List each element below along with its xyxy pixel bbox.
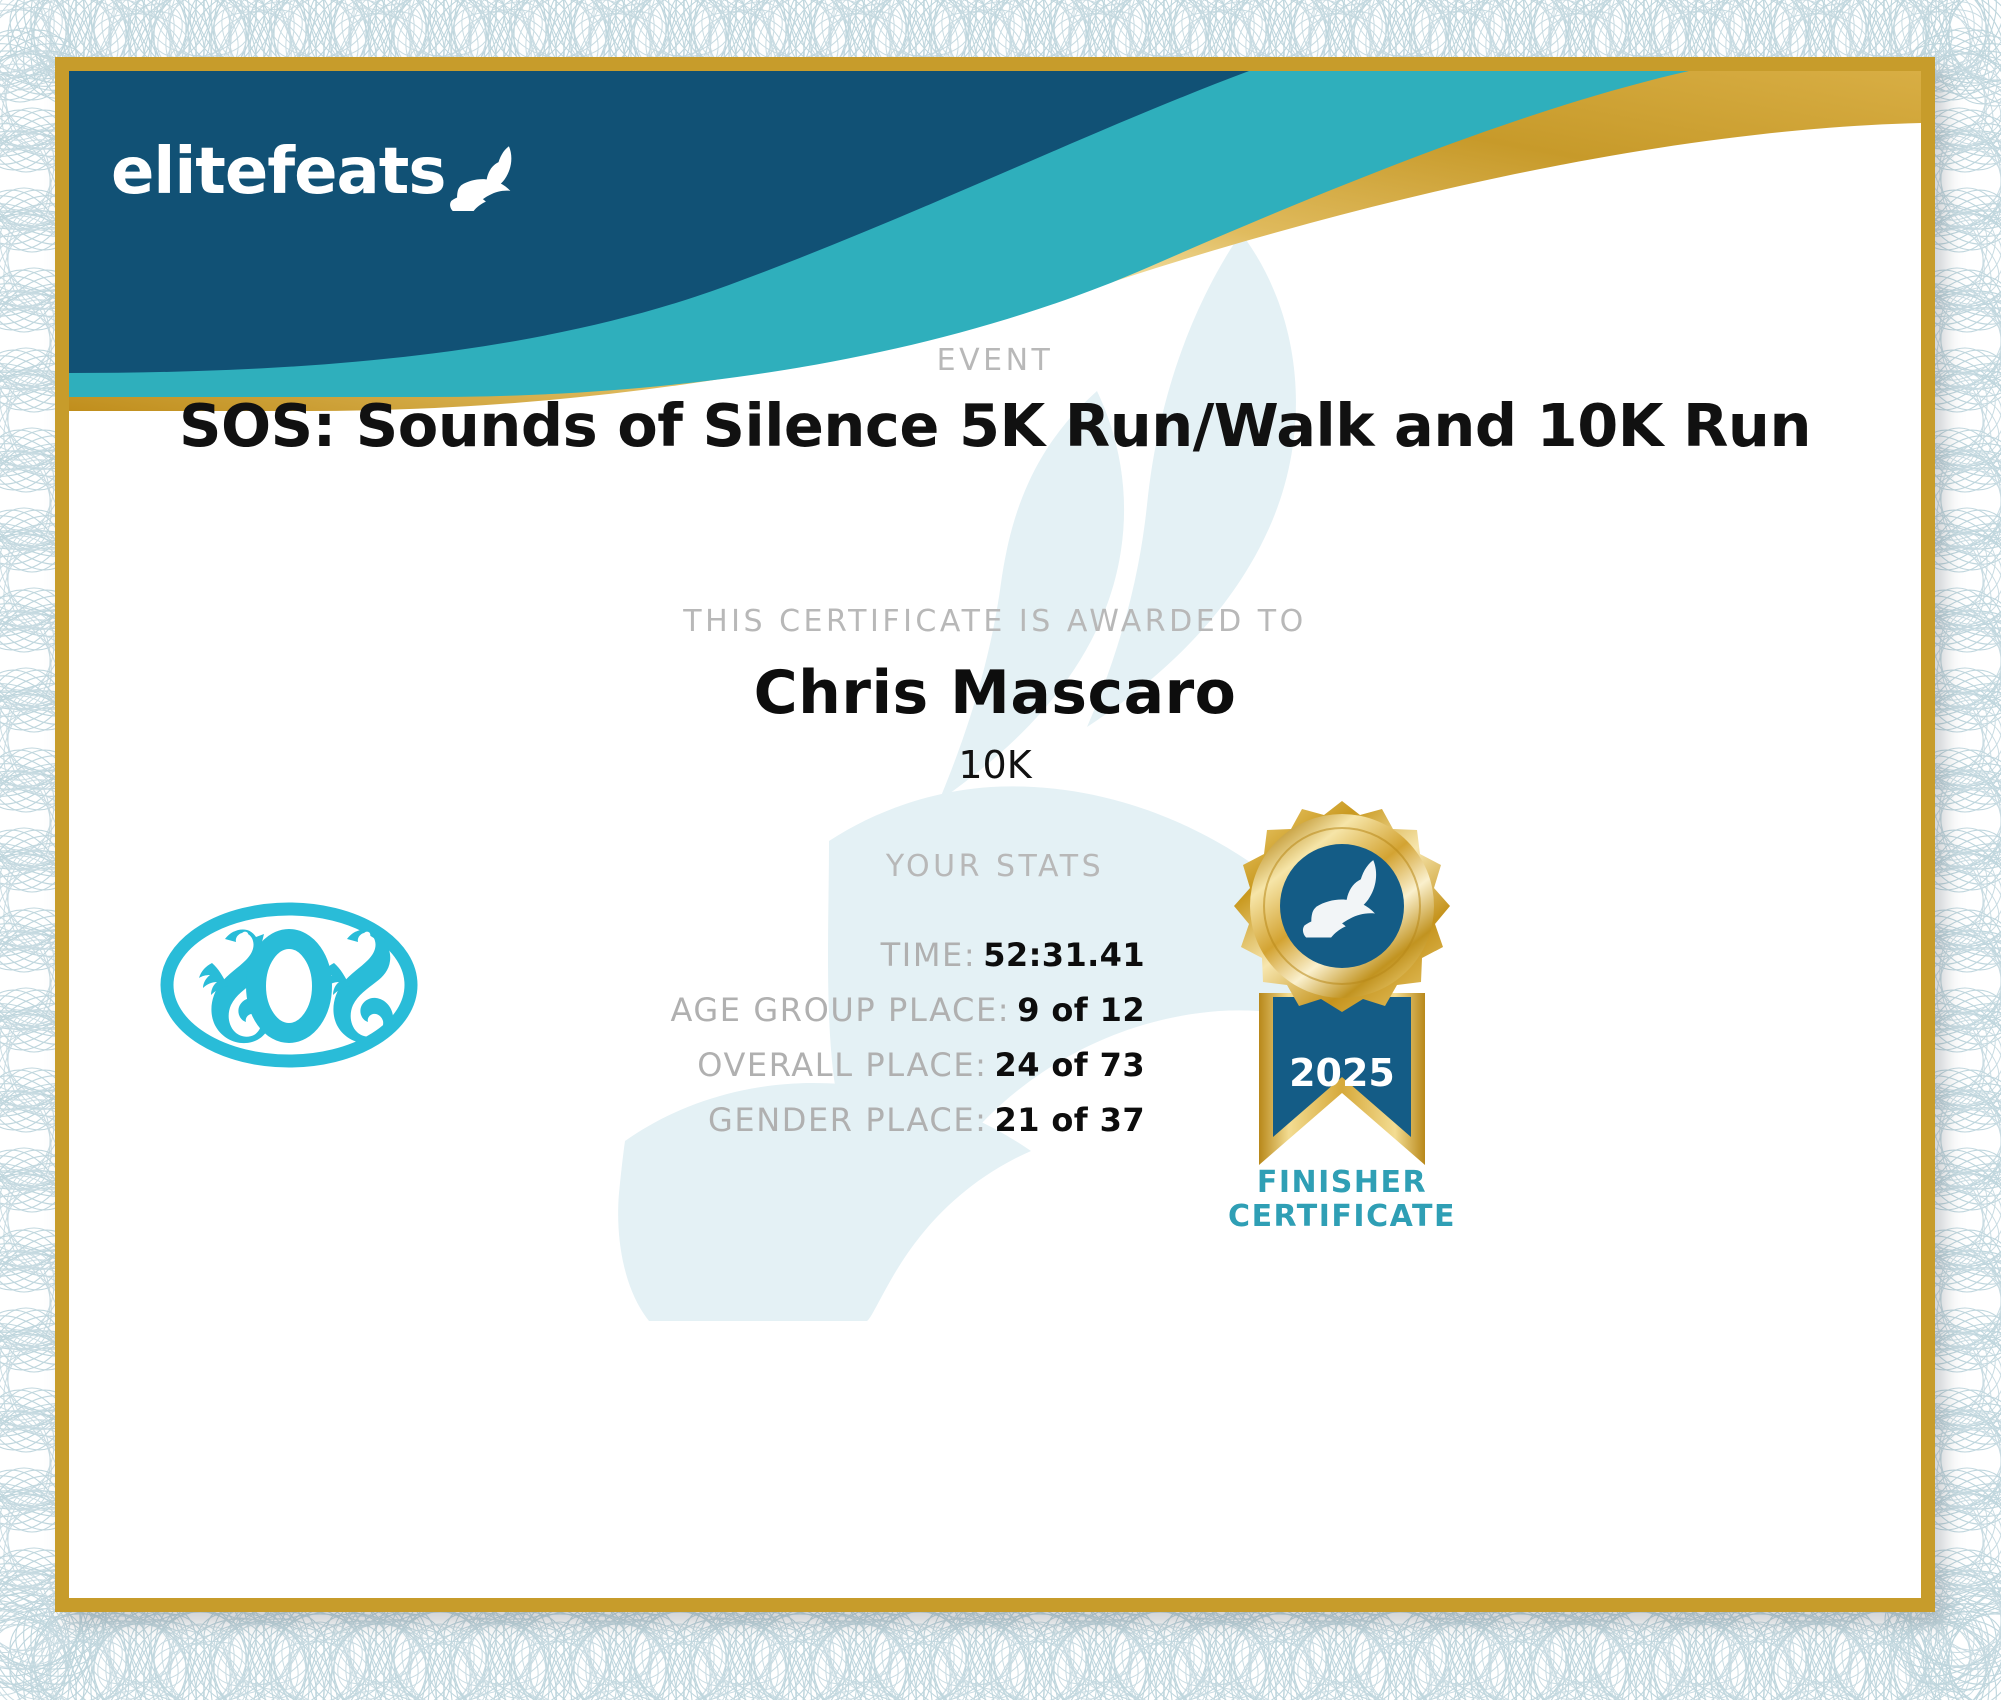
stat-value: 21 of 37 [995, 1101, 1145, 1139]
certificate-frame: elitefeats EVENT SOS: Sounds of Silence … [55, 57, 1935, 1612]
stat-value: 24 of 73 [995, 1046, 1145, 1084]
stat-key: OVERALL PLACE: [697, 1046, 987, 1084]
certificate-content: EVENT SOS: Sounds of Silence 5K Run/Walk… [69, 71, 1921, 1598]
stat-key: TIME: [881, 936, 977, 974]
event-title: SOS: Sounds of Silence 5K Run/Walk and 1… [69, 391, 1921, 460]
sos-seahorse-oval-icon [159, 901, 419, 1069]
your-stats-label: YOUR STATS [69, 849, 1921, 884]
certificate-inner: elitefeats EVENT SOS: Sounds of Silence … [69, 71, 1921, 1598]
stat-value: 52:31.41 [983, 936, 1145, 974]
event-label: EVENT [69, 343, 1921, 378]
medal-year: 2025 [1289, 1051, 1395, 1095]
certificate-page: elitefeats EVENT SOS: Sounds of Silence … [0, 0, 2001, 1700]
awarded-to-label: THIS CERTIFICATE IS AWARDED TO [69, 604, 1921, 639]
finisher-caption-line2: CERTIFICATE [1197, 1200, 1487, 1234]
recipient-name: Chris Mascaro [69, 658, 1921, 728]
stat-row-gender-place: GENDER PLACE:21 of 37 [69, 1104, 1145, 1136]
finisher-medal-badge: 2025 [1197, 793, 1487, 1173]
stat-value: 9 of 12 [1017, 991, 1145, 1029]
finisher-certificate-caption: FINISHER CERTIFICATE [1197, 1166, 1487, 1233]
recipient-division: 10K [69, 743, 1921, 787]
finisher-caption-line1: FINISHER [1197, 1166, 1487, 1200]
stat-key: GENDER PLACE: [708, 1101, 988, 1139]
stat-key: AGE GROUP PLACE: [670, 991, 1010, 1029]
